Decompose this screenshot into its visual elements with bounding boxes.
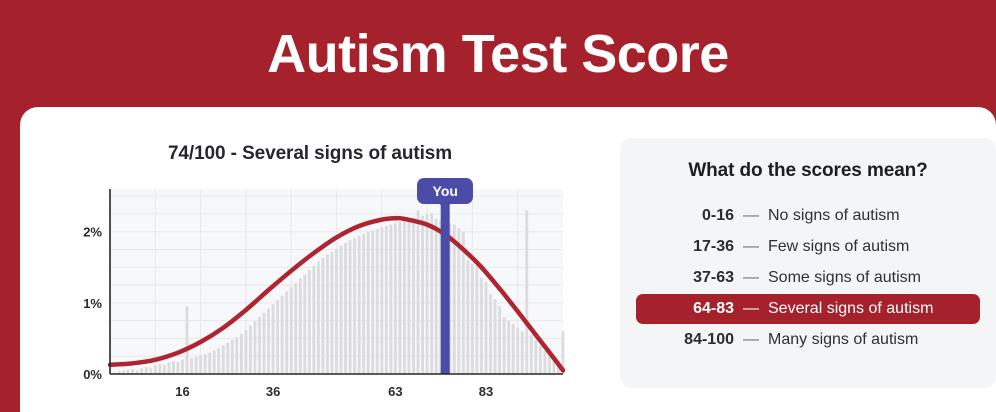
score-range-value: 64-83 bbox=[646, 300, 734, 318]
svg-text:63: 63 bbox=[388, 384, 402, 399]
score-range-row: 64-83—Several signs of autism bbox=[636, 294, 980, 324]
score-range-description: No signs of autism bbox=[768, 207, 970, 225]
page-header: Autism Test Score bbox=[0, 0, 996, 107]
y-axis-tick-labels: 0%1%2% bbox=[83, 225, 102, 382]
chart-title: 74/100 - Several signs of autism bbox=[20, 143, 600, 165]
svg-text:1%: 1% bbox=[83, 296, 102, 311]
page-title: Autism Test Score bbox=[267, 27, 729, 81]
score-range-description: Some signs of autism bbox=[768, 269, 970, 287]
score-row-dash: — bbox=[734, 331, 768, 349]
svg-text:83: 83 bbox=[479, 384, 493, 399]
scores-legend-list: 0-16—No signs of autism17-36—Few signs o… bbox=[620, 201, 996, 355]
result-card: 74/100 - Several signs of autism You 0%1… bbox=[20, 107, 996, 412]
scores-legend-panel: What do the scores mean? 0-16—No signs o… bbox=[620, 138, 996, 388]
score-range-row: 37-63—Some signs of autism bbox=[636, 263, 980, 293]
you-marker-badge: You bbox=[417, 178, 473, 204]
score-range-description: Many signs of autism bbox=[768, 331, 970, 349]
score-range-description: Several signs of autism bbox=[768, 300, 970, 318]
you-marker-label: You bbox=[433, 183, 458, 199]
svg-text:36: 36 bbox=[266, 384, 280, 399]
score-row-dash: — bbox=[734, 300, 768, 318]
score-range-value: 17-36 bbox=[646, 238, 734, 256]
svg-text:16: 16 bbox=[175, 384, 189, 399]
svg-text:2%: 2% bbox=[83, 225, 102, 240]
score-row-dash: — bbox=[734, 238, 768, 256]
svg-text:0%: 0% bbox=[83, 367, 102, 382]
score-distribution-chart: 0%1%2% 16366383 bbox=[20, 185, 600, 412]
score-range-value: 84-100 bbox=[646, 331, 734, 349]
score-range-row: 17-36—Few signs of autism bbox=[636, 232, 980, 262]
chart-panel: 74/100 - Several signs of autism You 0%1… bbox=[20, 107, 600, 412]
score-row-dash: — bbox=[734, 269, 768, 287]
score-range-description: Few signs of autism bbox=[768, 238, 970, 256]
scores-legend-heading: What do the scores mean? bbox=[620, 160, 996, 182]
app-root: Autism Test Score 74/100 - Several signs… bbox=[0, 0, 996, 412]
score-row-dash: — bbox=[734, 207, 768, 225]
score-range-value: 37-63 bbox=[646, 269, 734, 287]
x-axis-tick-labels: 16366383 bbox=[175, 384, 493, 399]
you-marker-line bbox=[441, 189, 450, 374]
score-range-row: 84-100—Many signs of autism bbox=[636, 325, 980, 355]
score-range-row: 0-16—No signs of autism bbox=[636, 201, 980, 231]
score-range-value: 0-16 bbox=[646, 207, 734, 225]
chart-svg: 0%1%2% 16366383 bbox=[20, 185, 600, 412]
